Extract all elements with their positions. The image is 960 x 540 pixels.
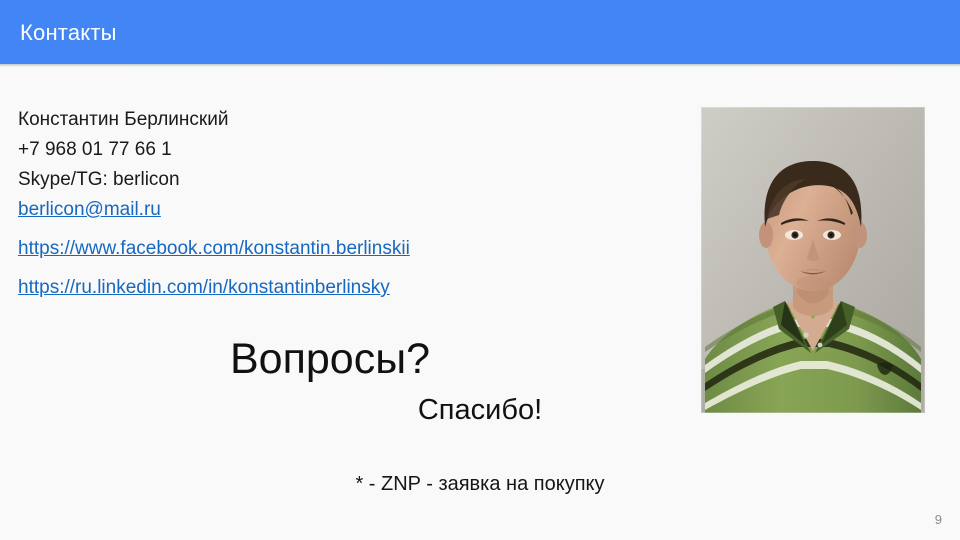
thanks-text: Спасибо! (0, 392, 960, 428)
portrait-photo (701, 107, 925, 413)
footnote-text: * - ZNP - заявка на покупку (0, 470, 960, 498)
questions-heading: Вопросы? (0, 334, 660, 384)
contact-linkedin-link[interactable]: https://ru.linkedin.com/in/konstantinber… (18, 273, 578, 303)
contact-messengers: Skype/TG: berlicon (18, 165, 578, 195)
page-title: Контакты (20, 20, 117, 46)
header-bar (0, 0, 960, 64)
contact-facebook-link[interactable]: https://www.facebook.com/konstantin.berl… (18, 234, 578, 264)
page-number: 9 (935, 512, 942, 528)
portrait-photo-illustration (701, 107, 925, 413)
contact-block: Константин Берлинский +7 968 01 77 66 1 … (18, 105, 578, 303)
slide: Контакты Константин Берлинский +7 968 01… (0, 0, 960, 540)
contact-email-link[interactable]: berlicon@mail.ru (18, 195, 578, 225)
header-shadow-divider (0, 64, 960, 67)
contact-name: Константин Берлинский (18, 105, 578, 135)
contact-phone: +7 968 01 77 66 1 (18, 135, 578, 165)
